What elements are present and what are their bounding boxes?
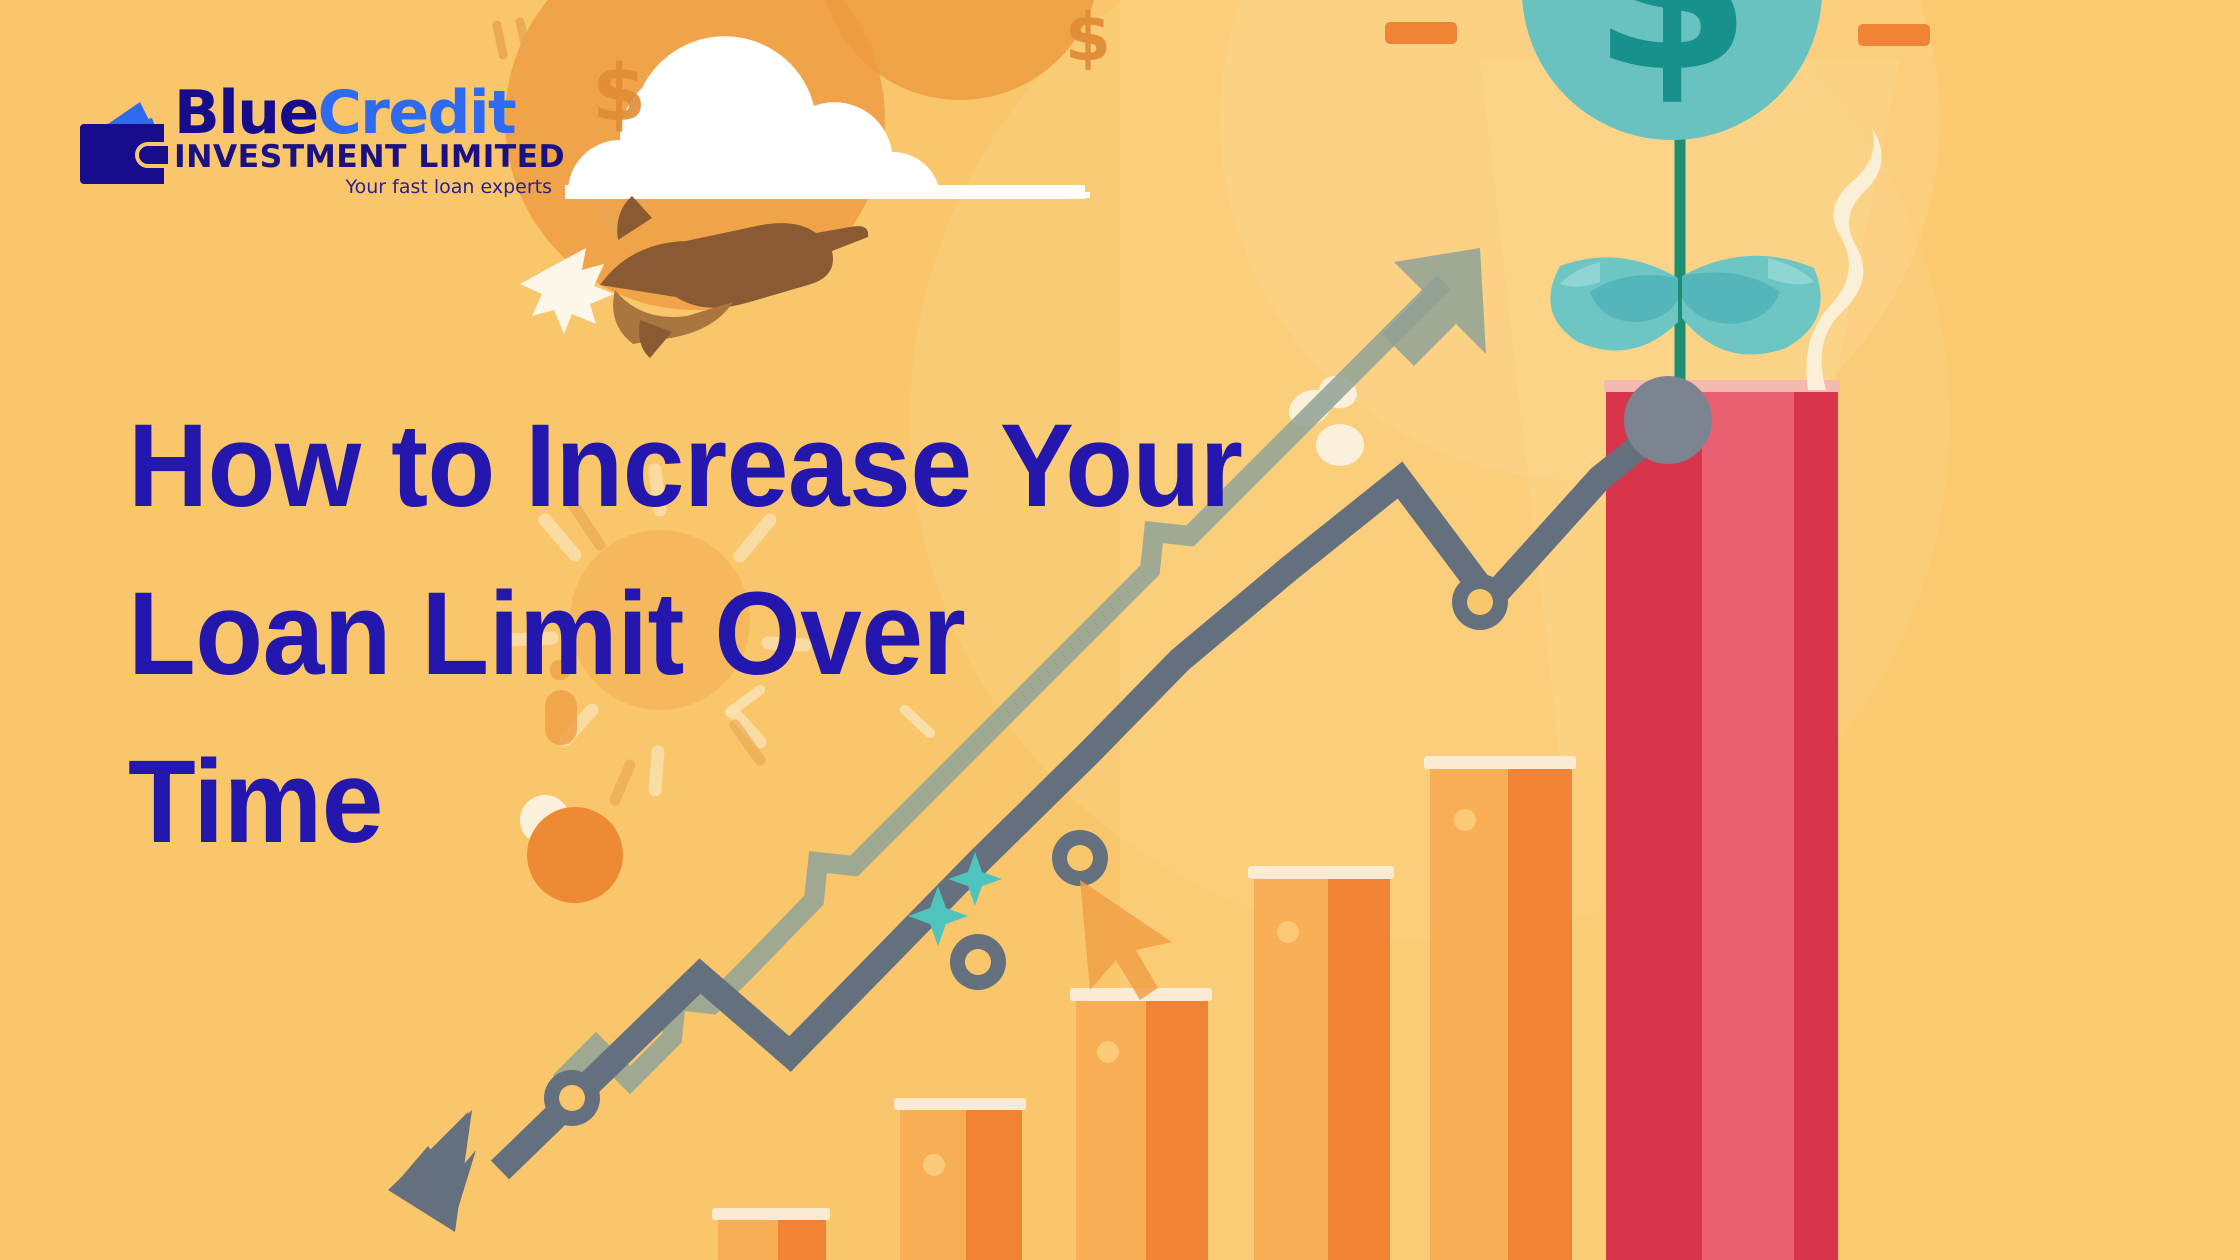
bar-3 bbox=[1070, 988, 1212, 1260]
page-title: How to Increase Your Loan Limit Over Tim… bbox=[128, 382, 1368, 886]
step-arrow-head bbox=[1382, 248, 1486, 366]
brand-tagline: Your fast loan experts bbox=[174, 176, 554, 198]
plant-leaf-left bbox=[1550, 257, 1678, 350]
svg-text:$: $ bbox=[1592, 0, 1752, 123]
swirl-decoration bbox=[1806, 128, 1881, 390]
bar-6-highlight bbox=[1604, 380, 1840, 1260]
brand-word-blue: Blue bbox=[174, 78, 318, 148]
headline-line-3: Time bbox=[128, 718, 1294, 886]
cursor-icon bbox=[1080, 880, 1172, 1000]
brand-logo[interactable]: BlueCredit INVESTMENT LIMITED Your fast … bbox=[78, 82, 548, 222]
brand-wordmark: BlueCredit bbox=[174, 82, 554, 144]
banner-canvas: $ $ bbox=[0, 0, 2240, 1260]
wallet-icon bbox=[78, 100, 188, 186]
plant-leaf-right bbox=[1682, 256, 1821, 355]
bar-1 bbox=[712, 1208, 830, 1260]
bar-4 bbox=[1248, 866, 1394, 1260]
money-plant-icon: $ bbox=[1522, 0, 1822, 390]
headline-line-1: How to Increase Your bbox=[128, 382, 1294, 550]
bar-5 bbox=[1424, 756, 1576, 1260]
brand-subtitle: INVESTMENT LIMITED bbox=[174, 140, 554, 174]
brand-word-credit: Credit bbox=[318, 78, 516, 148]
headline-line-2: Loan Limit Over bbox=[128, 550, 1294, 718]
bar-2 bbox=[894, 1098, 1026, 1260]
trend-endpoint bbox=[1624, 376, 1712, 464]
